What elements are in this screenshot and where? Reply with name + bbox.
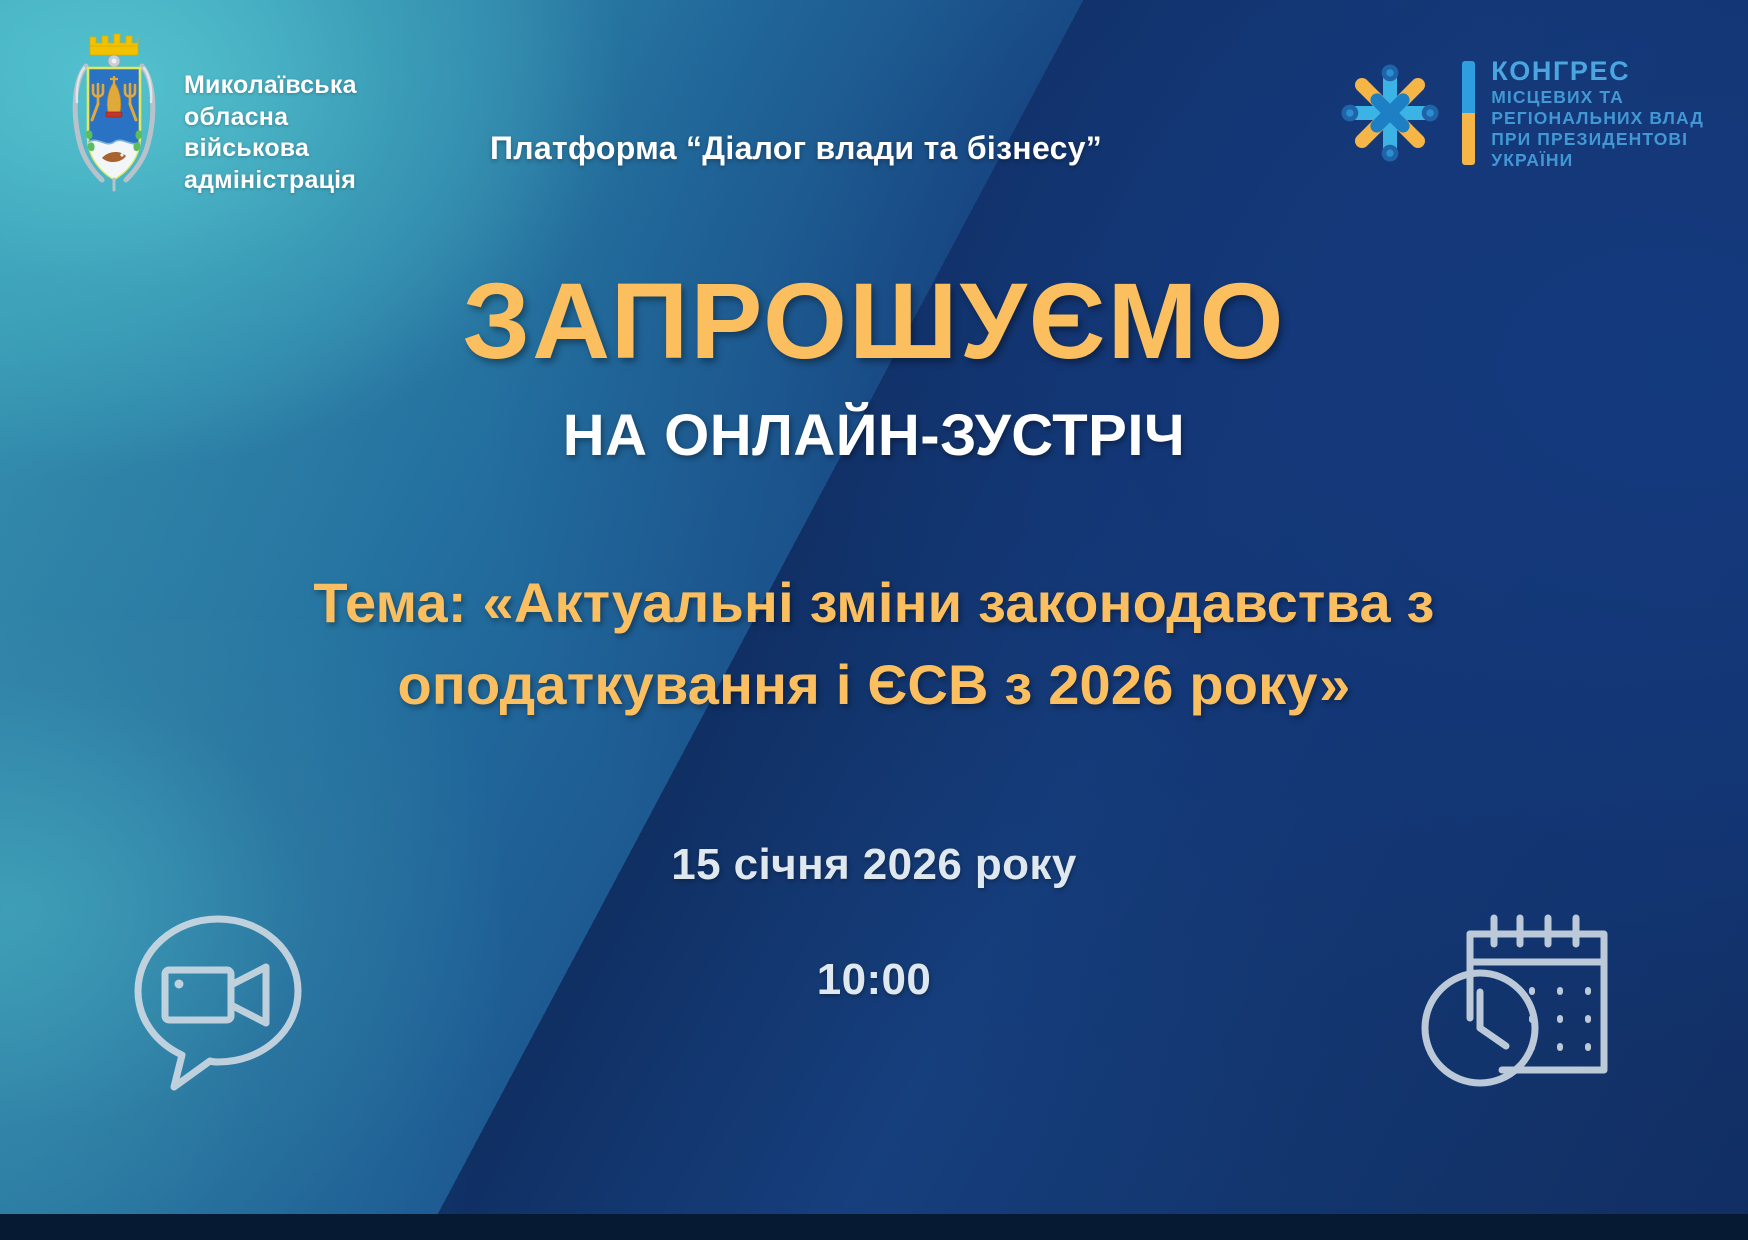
administration-name: Миколаївська обласна військова адміністр… bbox=[184, 32, 357, 196]
platform-title: Платформа “Діалог влади та бізнесу” bbox=[490, 130, 1102, 167]
divider-yellow-half bbox=[1462, 113, 1475, 165]
event-theme: Тема: «Актуальні зміни законодавства з о… bbox=[0, 562, 1748, 726]
divider-blue-half bbox=[1462, 61, 1475, 113]
calendar-clock-icon bbox=[1408, 900, 1623, 1100]
invitation-poster: Миколаївська обласна військова адміністр… bbox=[0, 0, 1748, 1240]
congress-flower-mark-icon bbox=[1334, 57, 1446, 169]
mykolaiv-coat-of-arms-icon bbox=[64, 32, 164, 192]
congress-name-text: КОНГРЕС МІСЦЕВИХ ТА РЕГІОНАЛЬНИХ ВЛАД ПР… bbox=[1491, 55, 1704, 171]
congress-flag-divider bbox=[1462, 61, 1475, 165]
bottom-strip bbox=[0, 1214, 1748, 1240]
poster-header: Миколаївська обласна військова адміністр… bbox=[0, 0, 1748, 215]
congress-line-2: МІСЦЕВИХ ТА bbox=[1491, 87, 1704, 108]
congress-logo-block: КОНГРЕС МІСЦЕВИХ ТА РЕГІОНАЛЬНИХ ВЛАД ПР… bbox=[1334, 55, 1704, 171]
congress-line-5: УКРАЇНИ bbox=[1491, 150, 1704, 171]
congress-line-4: ПРИ ПРЕЗИДЕНТОВІ bbox=[1491, 129, 1704, 150]
page-title: ЗАПРОШУЄМО bbox=[0, 258, 1748, 383]
congress-line-3: РЕГІОНАЛЬНИХ ВЛАД bbox=[1491, 108, 1704, 129]
administration-logo-block: Миколаївська обласна військова адміністр… bbox=[64, 32, 357, 196]
event-theme-line-1: Тема: «Актуальні зміни законодавства з bbox=[120, 562, 1628, 644]
congress-line-1: КОНГРЕС bbox=[1491, 55, 1704, 87]
video-chat-bubble-icon bbox=[118, 905, 318, 1095]
page-subtitle: НА ОНЛАЙН-ЗУСТРІЧ bbox=[0, 402, 1748, 469]
event-date: 15 січня 2026 року bbox=[0, 840, 1748, 890]
event-theme-line-2: оподаткування і ЄСВ з 2026 року» bbox=[120, 644, 1628, 726]
